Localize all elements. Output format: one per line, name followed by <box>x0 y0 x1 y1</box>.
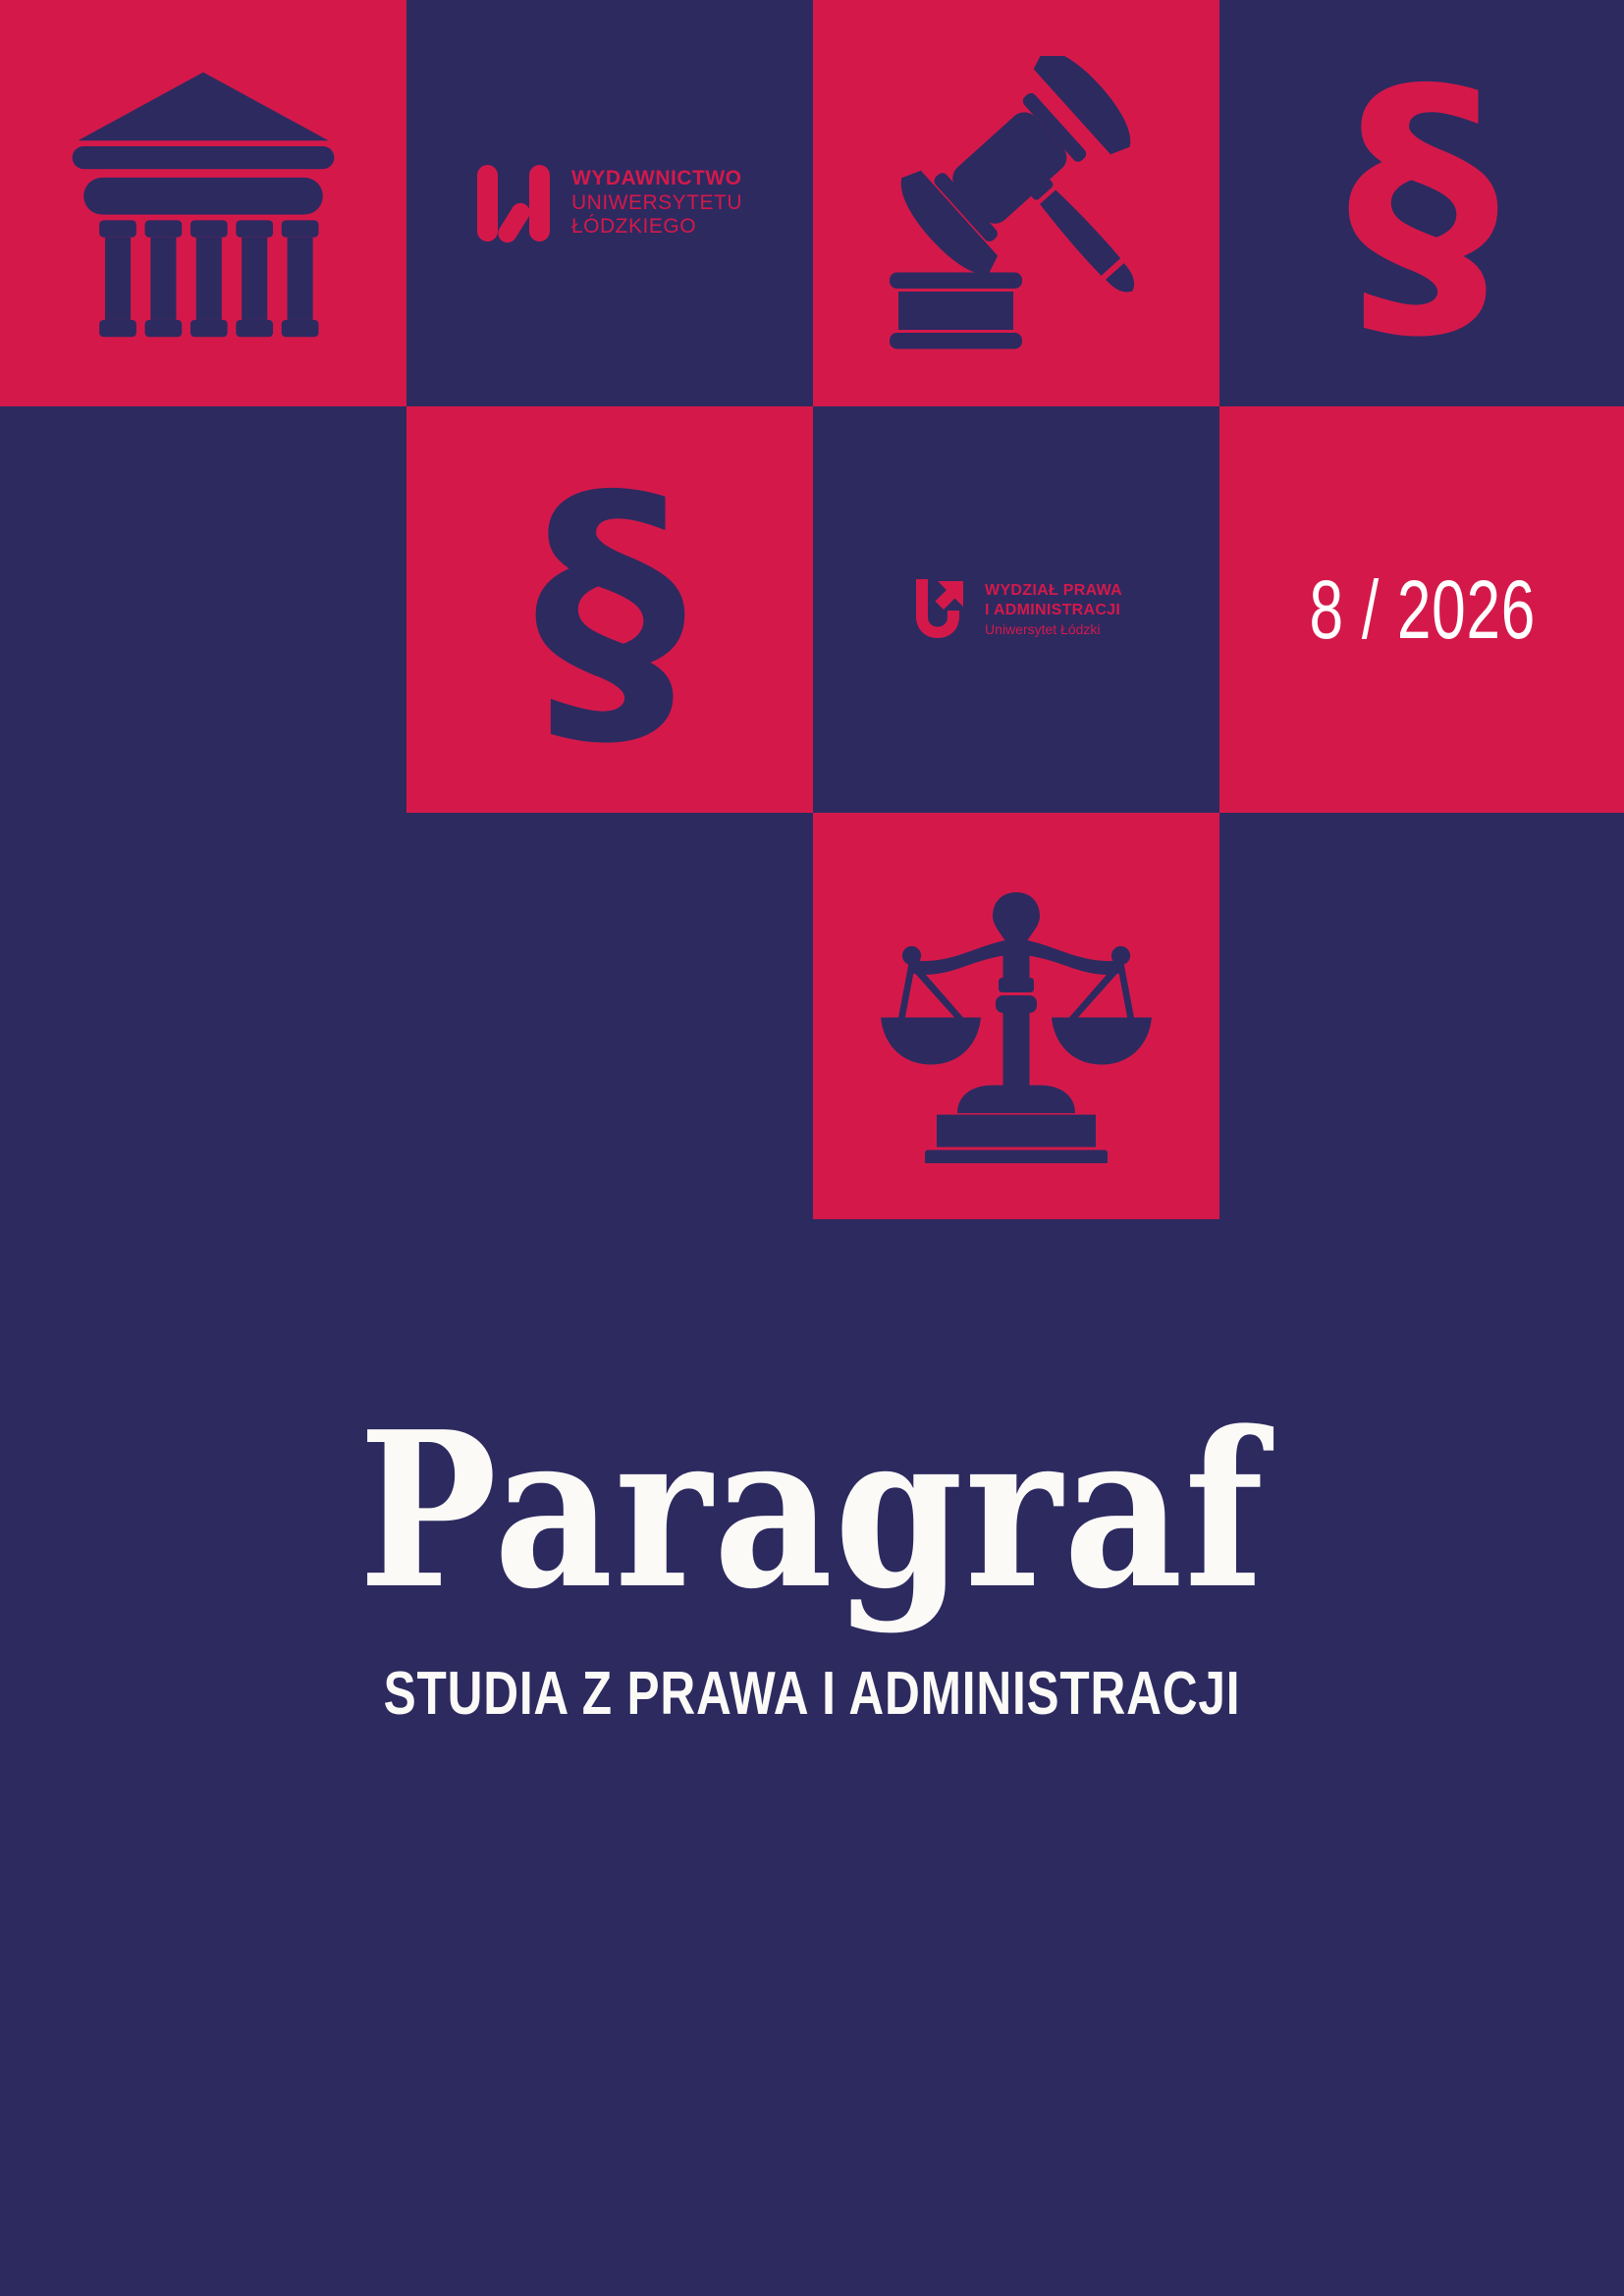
grid-cell-faculty-logo: WYDZIAŁ PRAWA I ADMINISTRACJI Uniwersyte… <box>813 406 1219 813</box>
page-title: Paragraf <box>114 1404 1510 1618</box>
page-subtitle: STUDIA Z PRAWA I ADMINISTRACJI <box>162 1659 1461 1729</box>
issue-number: 8 / 2026 <box>1310 562 1537 658</box>
grid-cell-scales <box>813 813 1219 1219</box>
faculty-logo-text: WYDZIAŁ PRAWA I ADMINISTRACJI Uniwersyte… <box>985 581 1122 637</box>
title-block: Paragraf STUDIA Z PRAWA I ADMINISTRACJI <box>0 1404 1624 1729</box>
book-cover: WYDAWNICTWO UNIWERSYTETU ŁÓDZKIEGO <box>0 0 1624 2296</box>
checkerboard-grid: WYDAWNICTWO UNIWERSYTETU ŁÓDZKIEGO <box>0 0 1624 1221</box>
faculty-line-2: I ADMINISTRACJI <box>985 601 1122 619</box>
faculty-line-3: Uniwersytet Łódzki <box>985 621 1122 638</box>
faculty-line-1: WYDZIAŁ PRAWA <box>985 581 1122 600</box>
paragraph-sign-icon: § <box>1347 51 1499 355</box>
publisher-line-2: UNIWERSYTETU <box>571 191 742 215</box>
faculty-logo: WYDZIAŁ PRAWA I ADMINISTRACJI Uniwersyte… <box>910 577 1122 642</box>
ul-bars-mark <box>477 165 550 241</box>
publisher-logo: WYDAWNICTWO UNIWERSYTETU ŁÓDZKIEGO <box>477 165 742 241</box>
grid-cell-paragraph-sign-2: § <box>406 406 813 813</box>
grid-cell-courthouse <box>0 0 406 406</box>
grid-cell-gavel <box>813 0 1219 406</box>
publisher-logo-text: WYDAWNICTWO UNIWERSYTETU ŁÓDZKIEGO <box>571 167 742 239</box>
paragraph-sign-icon: § <box>534 457 686 762</box>
publisher-line-3: ŁÓDZKIEGO <box>571 215 742 239</box>
u-arrow-mark <box>910 577 971 642</box>
courthouse-icon <box>61 61 346 346</box>
grid-cell-issue-number: 8 / 2026 <box>1219 406 1624 813</box>
scales-of-justice-icon <box>869 869 1164 1163</box>
gavel-icon <box>869 56 1164 350</box>
grid-cell-publisher-logo: WYDAWNICTWO UNIWERSYTETU ŁÓDZKIEGO <box>406 0 813 406</box>
grid-cell-paragraph-sign-1: § <box>1219 0 1624 406</box>
publisher-line-1: WYDAWNICTWO <box>571 167 742 190</box>
grid-cell-empty-1 <box>0 406 406 813</box>
